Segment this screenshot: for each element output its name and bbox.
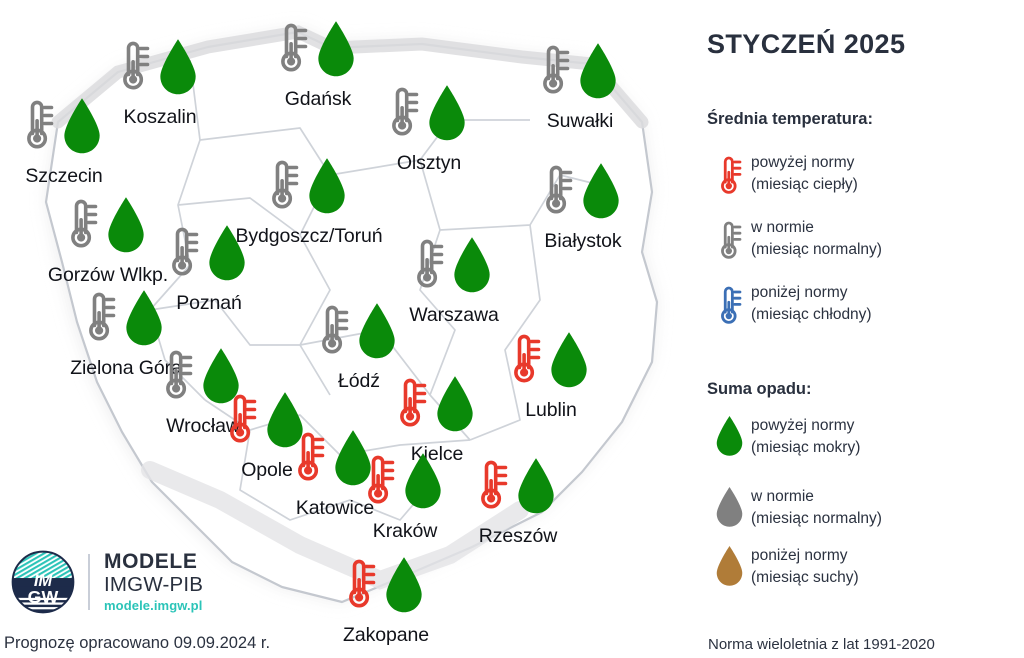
water-drop-icon-wet xyxy=(547,331,591,394)
thermometer-icon-warm xyxy=(391,373,431,434)
city-marker-lublin[interactable]: Lublin xyxy=(505,329,597,403)
water-drop-icon-wet xyxy=(104,196,148,259)
legend-item-temp-above-normal: powyżej normy (miesiąc ciepły) xyxy=(707,150,858,196)
city-label: Gorzów Wlkp. xyxy=(48,264,168,287)
city-marker-szczecin[interactable]: Szczecin xyxy=(18,95,110,169)
thermometer-icon-normal xyxy=(537,160,577,221)
legend-label-line1: poniżej normy xyxy=(751,545,859,567)
legend-panel: STYCZEŃ 2025 Średnia temperatura: powyże… xyxy=(690,0,1024,658)
city-marker-d[interactable]: Łódź xyxy=(313,300,405,374)
city-marker-krak-w[interactable]: Kraków xyxy=(359,450,451,524)
water-drop-icon-wet xyxy=(401,452,445,515)
water-drop-icon-wet xyxy=(156,38,200,101)
thermometer-icon-warm xyxy=(221,389,261,450)
city-label: Lublin xyxy=(525,399,576,422)
thermometer-icon-normal xyxy=(157,345,197,406)
city-label: Gdańsk xyxy=(285,88,352,111)
city-label: Olsztyn xyxy=(397,152,461,175)
city-label: Łódź xyxy=(338,370,380,393)
water-drop-icon-wet xyxy=(60,97,104,160)
water-drop-icon-wet xyxy=(425,84,469,147)
imgw-logo-icon: IM GW xyxy=(10,549,76,615)
legend-item-temp-normal: w normie (miesiąc normalny) xyxy=(707,215,882,261)
thermometer-icon-warm xyxy=(472,455,512,516)
city-label: Zakopane xyxy=(343,624,429,647)
city-label: Opole xyxy=(241,459,293,482)
water-drop-icon-wet xyxy=(205,224,249,287)
thermometer-icon-normal xyxy=(534,40,574,101)
forecast-issue-date: Prognozę opracowano 09.09.2024 r. xyxy=(4,634,270,653)
legend-label-line2: (miesiąc suchy) xyxy=(751,567,859,589)
water-drop-icon-wet xyxy=(707,413,751,457)
thermometer-icon-warm xyxy=(359,450,399,511)
thermometer-icon-normal xyxy=(707,215,751,261)
precipitation-legend-heading: Suma opadu: xyxy=(707,380,812,399)
water-drop-icon-wet xyxy=(433,375,477,438)
city-label: Koszalin xyxy=(124,106,197,129)
city-marker-olsztyn[interactable]: Olsztyn xyxy=(383,82,475,156)
water-drop-icon-wet xyxy=(579,162,623,225)
legend-label-line2: (miesiąc mokry) xyxy=(751,437,860,459)
logo-line-url[interactable]: modele.imgw.pl xyxy=(104,599,203,614)
thermometer-icon-warm xyxy=(340,554,380,615)
legend-label-line1: w normie xyxy=(751,486,882,508)
legend-label-line2: (miesiąc ciepły) xyxy=(751,174,858,196)
thermometer-icon-normal xyxy=(62,194,102,255)
city-marker-warszawa[interactable]: Warszawa xyxy=(408,234,500,308)
city-marker-suwa-ki[interactable]: Suwałki xyxy=(534,40,626,114)
legend-label-line1: w normie xyxy=(751,217,882,239)
thermometer-icon-normal xyxy=(313,300,353,361)
city-marker-bia-ystok[interactable]: Białystok xyxy=(537,160,629,234)
city-marker-kielce[interactable]: Kielce xyxy=(391,373,483,447)
legend-label-line2: (miesiąc normalny) xyxy=(751,508,882,530)
city-label: Suwałki xyxy=(547,110,614,133)
thermometer-icon-normal xyxy=(408,234,448,295)
city-marker-gda-sk[interactable]: Gdańsk xyxy=(272,18,364,92)
legend-label-line2: (miesiąc chłodny) xyxy=(751,304,872,326)
legend-label-line1: poniżej normy xyxy=(751,282,872,304)
water-drop-icon-wet xyxy=(450,236,494,299)
water-drop-icon-dry xyxy=(707,543,751,587)
thermometer-icon-warm xyxy=(707,150,751,196)
thermometer-icon-normal xyxy=(383,82,423,143)
temperature-legend-heading: Średnia temperatura: xyxy=(707,110,873,129)
city-marker-rzesz-w[interactable]: Rzeszów xyxy=(472,455,564,529)
logo-line-modele: MODELE xyxy=(104,550,203,574)
water-drop-icon-wet xyxy=(382,556,426,619)
city-label: Białystok xyxy=(544,230,621,253)
legend-label-line1: powyżej normy xyxy=(751,152,858,174)
imgw-logo: IM GW MODELE IMGW-PIB modele.imgw.pl xyxy=(10,549,203,615)
water-drop-icon-normal xyxy=(707,484,751,528)
city-marker-zakopane[interactable]: Zakopane xyxy=(340,554,432,628)
water-drop-icon-wet xyxy=(514,457,558,520)
city-marker-bydgoszcz-toru[interactable]: Bydgoszcz/Toruń xyxy=(263,155,355,229)
thermometer-icon-normal xyxy=(272,18,312,79)
legend-label-line1: powyżej normy xyxy=(751,415,860,437)
page-title: STYCZEŃ 2025 xyxy=(707,29,905,60)
thermometer-icon-normal xyxy=(163,222,203,283)
legend-item-prec-normal: w normie (miesiąc normalny) xyxy=(707,484,882,530)
city-label: Rzeszów xyxy=(479,525,557,548)
logo-line-imgw-pib: IMGW-PIB xyxy=(104,574,203,597)
city-label: Warszawa xyxy=(409,304,499,327)
city-marker-koszalin[interactable]: Koszalin xyxy=(114,36,206,110)
city-label: Kraków xyxy=(373,520,437,543)
logo-divider xyxy=(88,554,90,610)
thermometer-icon-normal xyxy=(18,95,58,156)
city-label: Szczecin xyxy=(25,165,102,188)
legend-label-line2: (miesiąc normalny) xyxy=(751,239,882,261)
legend-item-temp-below-normal: poniżej normy (miesiąc chłodny) xyxy=(707,280,872,326)
city-marker-gorz-w-wlkp[interactable]: Gorzów Wlkp. xyxy=(62,194,154,268)
water-drop-icon-wet xyxy=(576,42,620,105)
thermometer-icon-normal xyxy=(80,287,120,348)
water-drop-icon-wet xyxy=(314,20,358,83)
svg-text:GW: GW xyxy=(28,587,59,607)
city-label: Poznań xyxy=(176,292,242,315)
thermometer-icon-warm xyxy=(505,329,545,390)
climate-normal-note: Norma wieloletnia z lat 1991-2020 xyxy=(708,636,935,653)
legend-item-prec-below-normal: poniżej normy (miesiąc suchy) xyxy=(707,543,859,589)
city-label: Bydgoszcz/Toruń xyxy=(236,225,383,248)
water-drop-icon-wet xyxy=(305,157,349,220)
thermometer-icon-warm xyxy=(289,427,329,488)
water-drop-icon-wet xyxy=(355,302,399,365)
water-drop-icon-wet xyxy=(122,289,166,352)
legend-item-prec-above-normal: powyżej normy (miesiąc mokry) xyxy=(707,413,860,459)
thermometer-icon-normal xyxy=(263,155,303,216)
thermometer-icon-cold xyxy=(707,280,751,326)
thermometer-icon-normal xyxy=(114,36,154,97)
city-marker-pozna[interactable]: Poznań xyxy=(163,222,255,296)
